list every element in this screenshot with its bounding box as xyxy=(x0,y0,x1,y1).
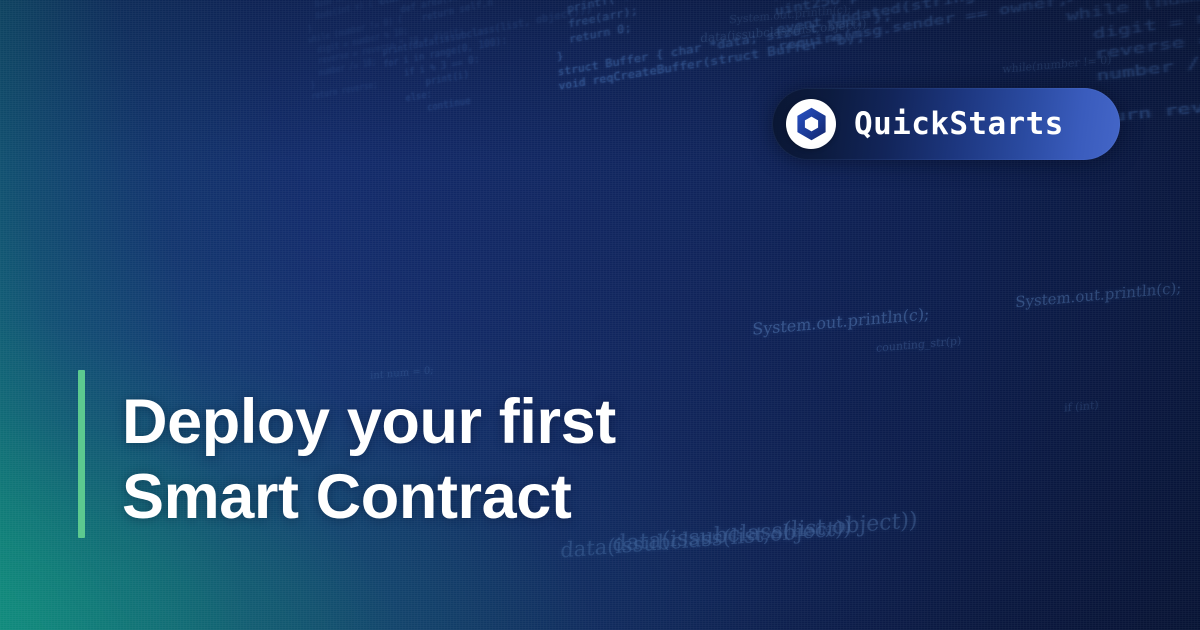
quickstarts-badge[interactable]: QuickStarts xyxy=(772,88,1120,160)
headline-line-2: Smart Contract xyxy=(122,460,762,535)
quickstarts-badge-label: QuickStarts xyxy=(854,109,1064,140)
green-accent-bar xyxy=(78,370,85,538)
quickstarts-banner: import java.util.*; public class Main { … xyxy=(0,0,1200,630)
headline-line-1: Deploy your first xyxy=(122,385,762,460)
chainlink-hexagon-icon xyxy=(796,107,827,141)
chainlink-logo-circle xyxy=(786,99,836,149)
headline-block: Deploy your first Smart Contract xyxy=(122,385,762,535)
